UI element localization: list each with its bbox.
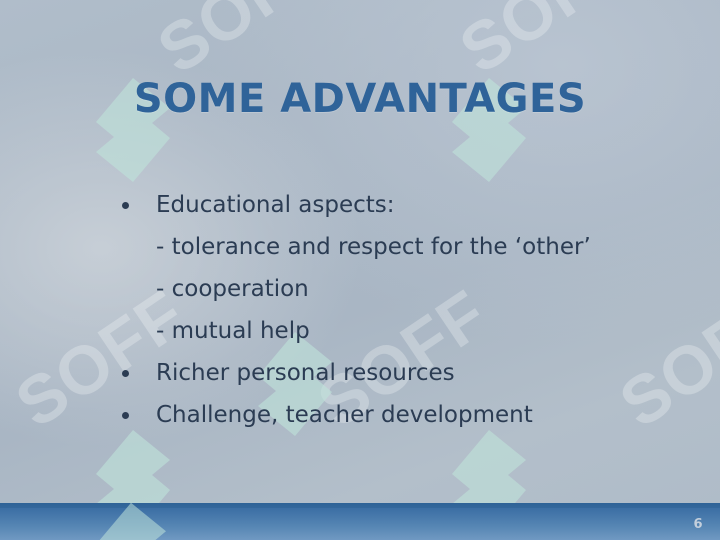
slide-body-list: Educational aspects: - tolerance and res… (118, 184, 678, 436)
page-number: 6 (693, 517, 703, 532)
list-item-label: - mutual help (156, 310, 310, 352)
slide-canvas: SOFF SOFF SOFF SOFF SOFF (0, 0, 720, 540)
list-item: Educational aspects: (118, 184, 678, 226)
bullet-icon (118, 394, 156, 436)
list-item: - mutual help (118, 310, 678, 352)
list-item-label: - cooperation (156, 268, 309, 310)
list-item: - cooperation (118, 268, 678, 310)
list-item: Richer personal resources (118, 352, 678, 394)
slide-title: SOME ADVANTAGES (0, 76, 720, 122)
list-item-label: Challenge, teacher development (156, 394, 533, 436)
bullet-spacer (118, 226, 156, 268)
list-item-label: Educational aspects: (156, 184, 395, 226)
list-item-label: Richer personal resources (156, 352, 455, 394)
bullet-icon (118, 352, 156, 394)
bullet-icon (118, 184, 156, 226)
slide-footer-bar: 6 (0, 503, 720, 540)
list-item-label: - tolerance and respect for the ‘other’ (156, 226, 591, 268)
bullet-spacer (118, 268, 156, 310)
list-item: - tolerance and respect for the ‘other’ (118, 226, 678, 268)
list-item: Challenge, teacher development (118, 394, 678, 436)
footer-fill (0, 508, 720, 540)
bullet-spacer (118, 310, 156, 352)
